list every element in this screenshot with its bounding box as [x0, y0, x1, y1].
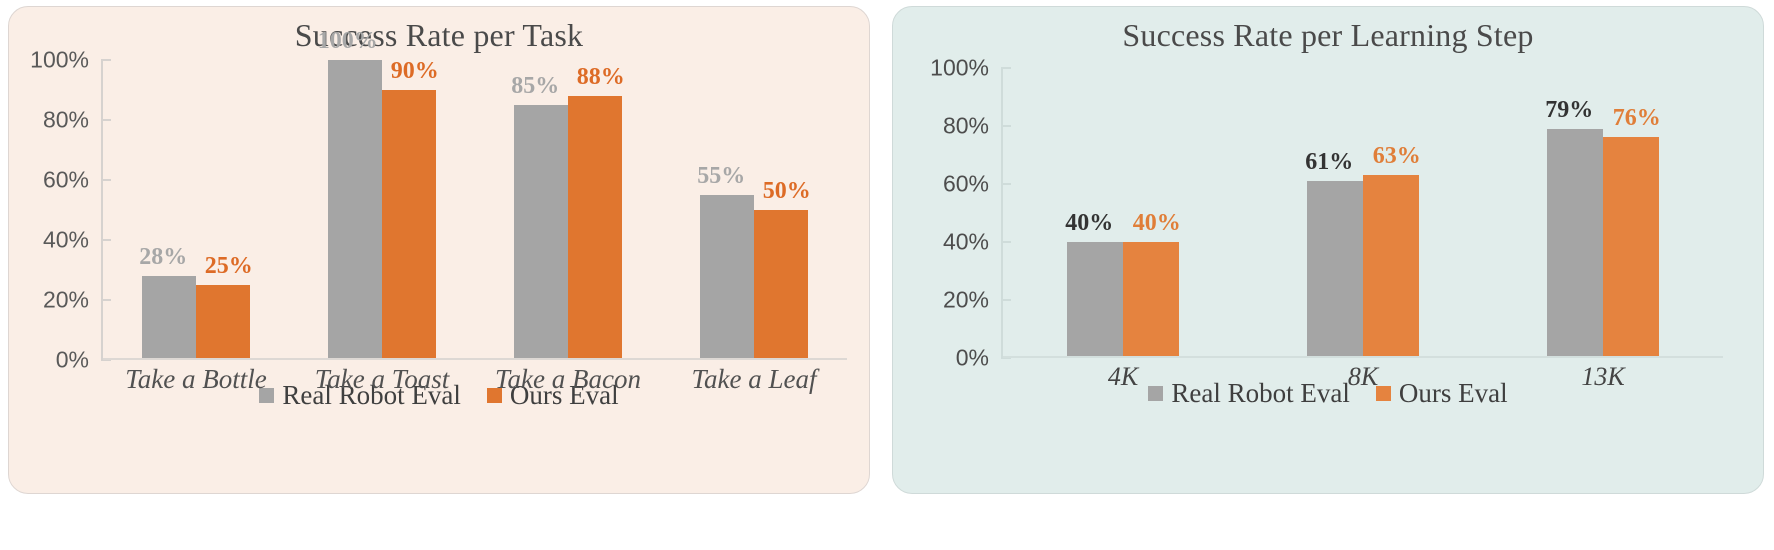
x-axis-line-left — [103, 358, 847, 360]
bar-value-label: 79% — [1545, 97, 1593, 124]
y-tick-label: 0% — [956, 344, 989, 371]
bar-ours-eval[interactable]: 25% — [196, 285, 250, 360]
bar-value-label: 40% — [1133, 210, 1181, 237]
y-tick-label: 20% — [943, 286, 989, 313]
y-tick-label: 0% — [56, 346, 89, 373]
bar-value-label: 100% — [318, 28, 378, 55]
chart-title-right: Success Rate per Learning Step — [893, 7, 1763, 54]
x-category-label: 8K — [1243, 362, 1483, 392]
bar-ours-eval[interactable]: 50% — [754, 210, 808, 360]
bar-ours-eval[interactable]: 90% — [382, 90, 436, 360]
y-tick-label: 80% — [43, 106, 89, 133]
bar-value-label: 25% — [205, 253, 253, 280]
bar-real-robot-eval[interactable]: 100% — [328, 60, 382, 360]
y-tick-label: 40% — [43, 226, 89, 253]
y-tick-label: 40% — [943, 228, 989, 255]
bar-ours-eval[interactable]: 88% — [568, 96, 622, 360]
y-axis-left: 100% 80% 60% 40% 20% 0% — [23, 60, 101, 360]
bar-group: 85% 88% — [475, 60, 661, 360]
y-tick-label: 100% — [30, 46, 89, 73]
y-tick-label: 20% — [43, 286, 89, 313]
bar-ours-eval[interactable]: 63% — [1363, 175, 1419, 358]
bar-value-label: 50% — [763, 178, 811, 205]
x-category-label: 13K — [1483, 362, 1723, 392]
bar-real-robot-eval[interactable]: 79% — [1547, 129, 1603, 358]
chart-title-left: Success Rate per Task — [9, 7, 869, 54]
x-category-label: Take a Toast — [289, 364, 475, 395]
bar-value-label: 61% — [1305, 149, 1353, 176]
bar-value-label: 76% — [1613, 105, 1661, 132]
x-axis-left: Take a Bottle Take a Toast Take a Bacon … — [23, 364, 847, 395]
bar-real-robot-eval[interactable]: 28% — [142, 276, 196, 360]
x-category-label: Take a Bacon — [475, 364, 661, 395]
chart-panel-success-rate-per-learning-step: Success Rate per Learning Step 100% 80% … — [892, 6, 1764, 494]
bar-ours-eval[interactable]: 76% — [1603, 137, 1659, 357]
bar-value-label: 40% — [1065, 210, 1113, 237]
y-tick-label: 60% — [943, 170, 989, 197]
y-tick-label: 100% — [930, 54, 989, 81]
bar-real-robot-eval[interactable]: 61% — [1307, 181, 1363, 358]
x-axis-right: 4K 8K 13K — [923, 362, 1723, 392]
bar-value-label: 28% — [139, 244, 187, 271]
bars-region-right: 40% 40% 61% 63% — [1003, 68, 1723, 358]
plot-area-right: 100% 80% 60% 40% 20% 0% — [923, 68, 1723, 358]
x-axis-line-right — [1003, 356, 1723, 358]
bars-region-left: 28% 25% 100% 90% — [103, 60, 847, 360]
bar-group: 40% 40% — [1003, 68, 1243, 358]
bar-group: 100% 90% — [289, 60, 475, 360]
bar-value-label: 63% — [1373, 143, 1421, 170]
bar-group: 79% 76% — [1483, 68, 1723, 358]
bar-group: 61% 63% — [1243, 68, 1483, 358]
bar-value-label: 88% — [577, 64, 625, 91]
y-axis-right: 100% 80% 60% 40% 20% 0% — [923, 68, 1001, 358]
chart-panel-success-rate-per-task: Success Rate per Task 100% 80% 60% 40% 2… — [8, 6, 870, 494]
x-category-label: Take a Leaf — [661, 364, 847, 395]
bar-value-label: 85% — [511, 73, 559, 100]
bar-real-robot-eval[interactable]: 40% — [1067, 242, 1123, 358]
bar-value-label: 90% — [391, 58, 439, 85]
x-category-label: Take a Bottle — [103, 364, 289, 395]
bar-ours-eval[interactable]: 40% — [1123, 242, 1179, 358]
bar-real-robot-eval[interactable]: 55% — [700, 195, 754, 360]
bar-value-label: 55% — [697, 163, 745, 190]
x-category-label: 4K — [1003, 362, 1243, 392]
bar-real-robot-eval[interactable]: 85% — [514, 105, 568, 360]
bar-group: 55% 50% — [661, 60, 847, 360]
y-tick-label: 60% — [43, 166, 89, 193]
figure-root: Success Rate per Task 100% 80% 60% 40% 2… — [0, 0, 1774, 550]
bar-group: 28% 25% — [103, 60, 289, 360]
y-tick-label: 80% — [943, 112, 989, 139]
plot-area-left: 100% 80% 60% 40% 20% 0% — [23, 60, 847, 360]
